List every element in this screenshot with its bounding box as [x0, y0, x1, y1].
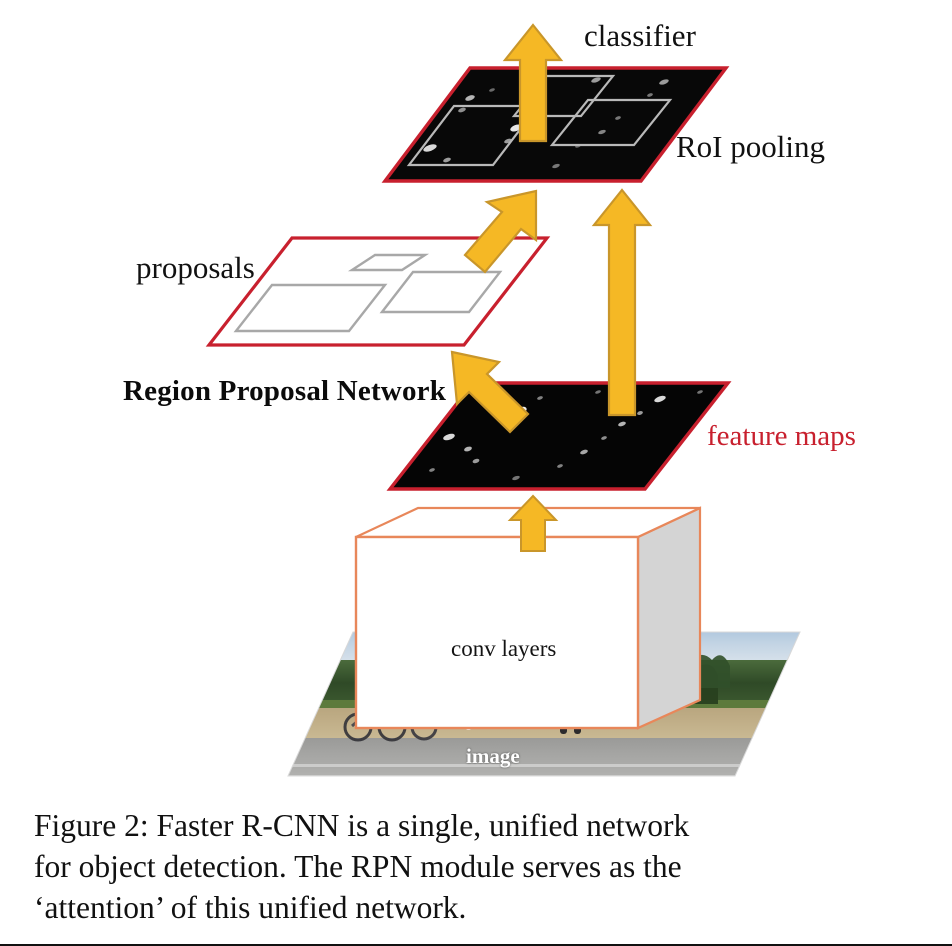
caption-line-1: Figure 2: Faster R-CNN is a single, unif…	[34, 806, 924, 847]
cube-side-face	[638, 508, 700, 728]
caption-line-3: ‘attention’ of this unified network.	[34, 888, 924, 929]
label-classifier: classifier	[584, 20, 696, 51]
cube-front-face	[356, 537, 638, 728]
label-image: image	[466, 746, 520, 767]
label-proposals: proposals	[136, 252, 255, 283]
label-roi-pooling: RoI pooling	[676, 131, 825, 162]
label-conv-layers: conv layers	[451, 637, 556, 660]
roi-pooling-plane	[385, 68, 726, 181]
label-region-proposal-network: Region Proposal Network	[123, 377, 446, 406]
feature-maps-to-roi-arrow	[594, 190, 650, 415]
figure-caption: Figure 2: Faster R-CNN is a single, unif…	[34, 806, 924, 929]
label-feature-maps: feature maps	[707, 422, 856, 451]
figure-2-faster-rcnn: classifier RoI pooling proposals Region …	[0, 0, 952, 946]
diagram-area: classifier RoI pooling proposals Region …	[0, 0, 952, 800]
caption-line-2: for object detection. The RPN module ser…	[34, 847, 924, 888]
